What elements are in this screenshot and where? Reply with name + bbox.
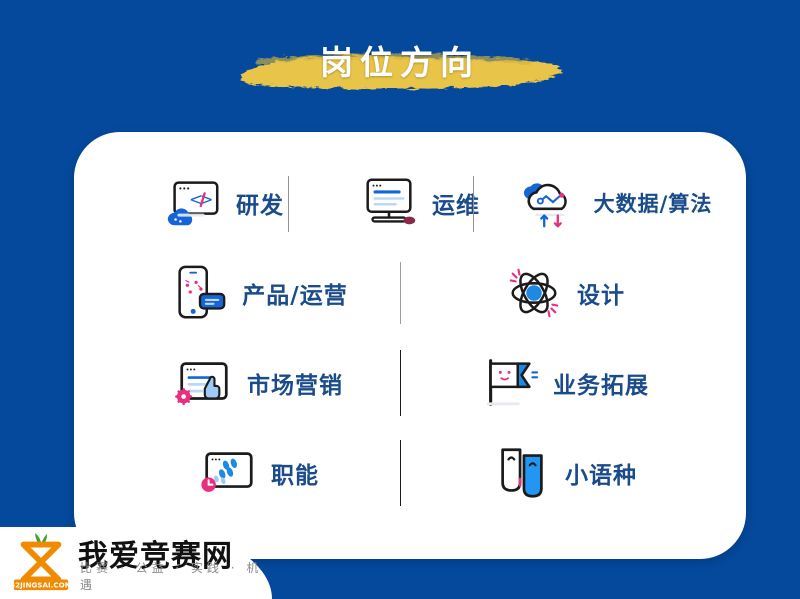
- site-logo-icon: 52JINGSAI.COM: [10, 531, 72, 593]
- site-tagline: 比赛 · 公益 · 实践 · 机遇: [80, 559, 272, 593]
- speech-faces-icon: [491, 442, 553, 504]
- job-item-label: 业务拓展: [553, 366, 649, 400]
- job-row-4: 职能 小语种: [74, 430, 746, 516]
- job-item-bigdata[interactable]: 大数据/算法: [486, 160, 746, 246]
- phone-chat-icon: [168, 262, 230, 324]
- divider-row1-b: [473, 176, 474, 232]
- atom-icon: [503, 262, 565, 324]
- job-item-label: 研发: [236, 186, 284, 220]
- tablet-footprints-clock-icon: [197, 442, 259, 504]
- monitor-icon: [358, 172, 420, 234]
- divider-row1-a: [288, 176, 289, 232]
- job-item-label: 市场营销: [247, 366, 343, 400]
- job-item-bizdev[interactable]: 业务拓展: [414, 340, 714, 426]
- job-row-1: < > 研发: [74, 160, 746, 246]
- job-item-label: 产品/运营: [242, 276, 347, 310]
- job-item-design[interactable]: 设计: [414, 250, 714, 336]
- job-item-label: 大数据/算法: [594, 188, 713, 218]
- job-item-label: 职能: [271, 456, 319, 490]
- job-row-2: 产品/运营: [74, 250, 746, 336]
- divider-row2: [400, 262, 401, 324]
- divider-row3: [400, 350, 401, 416]
- code-window-cloud-icon: < >: [162, 172, 224, 234]
- job-item-label: 小语种: [565, 456, 637, 490]
- browser-cursor-gear-icon: [173, 352, 235, 414]
- job-row-3: 市场营销 业务拓展: [74, 340, 746, 426]
- job-directions-grid: < > 研发: [74, 132, 746, 559]
- job-item-label: 设计: [577, 276, 625, 310]
- job-item-marketing[interactable]: 市场营销: [108, 340, 408, 426]
- watermark: 52JINGSAI.COM 我爱竞赛网 比赛 · 公益 · 实践 · 机遇: [0, 527, 272, 599]
- job-directions-card: < > 研发: [74, 132, 746, 559]
- job-item-function[interactable]: 职能: [108, 430, 408, 516]
- job-item-language[interactable]: 小语种: [414, 430, 714, 516]
- cloud-data-flow-icon: [520, 172, 582, 234]
- slide-title-area: 岗位方向: [0, 14, 800, 94]
- divider-row4: [400, 440, 401, 506]
- flag-icon: [479, 352, 541, 414]
- page-title: 岗位方向: [0, 36, 800, 84]
- job-item-product[interactable]: 产品/运营: [108, 250, 408, 336]
- svg-text:52JINGSAI.COM: 52JINGSAI.COM: [10, 581, 72, 590]
